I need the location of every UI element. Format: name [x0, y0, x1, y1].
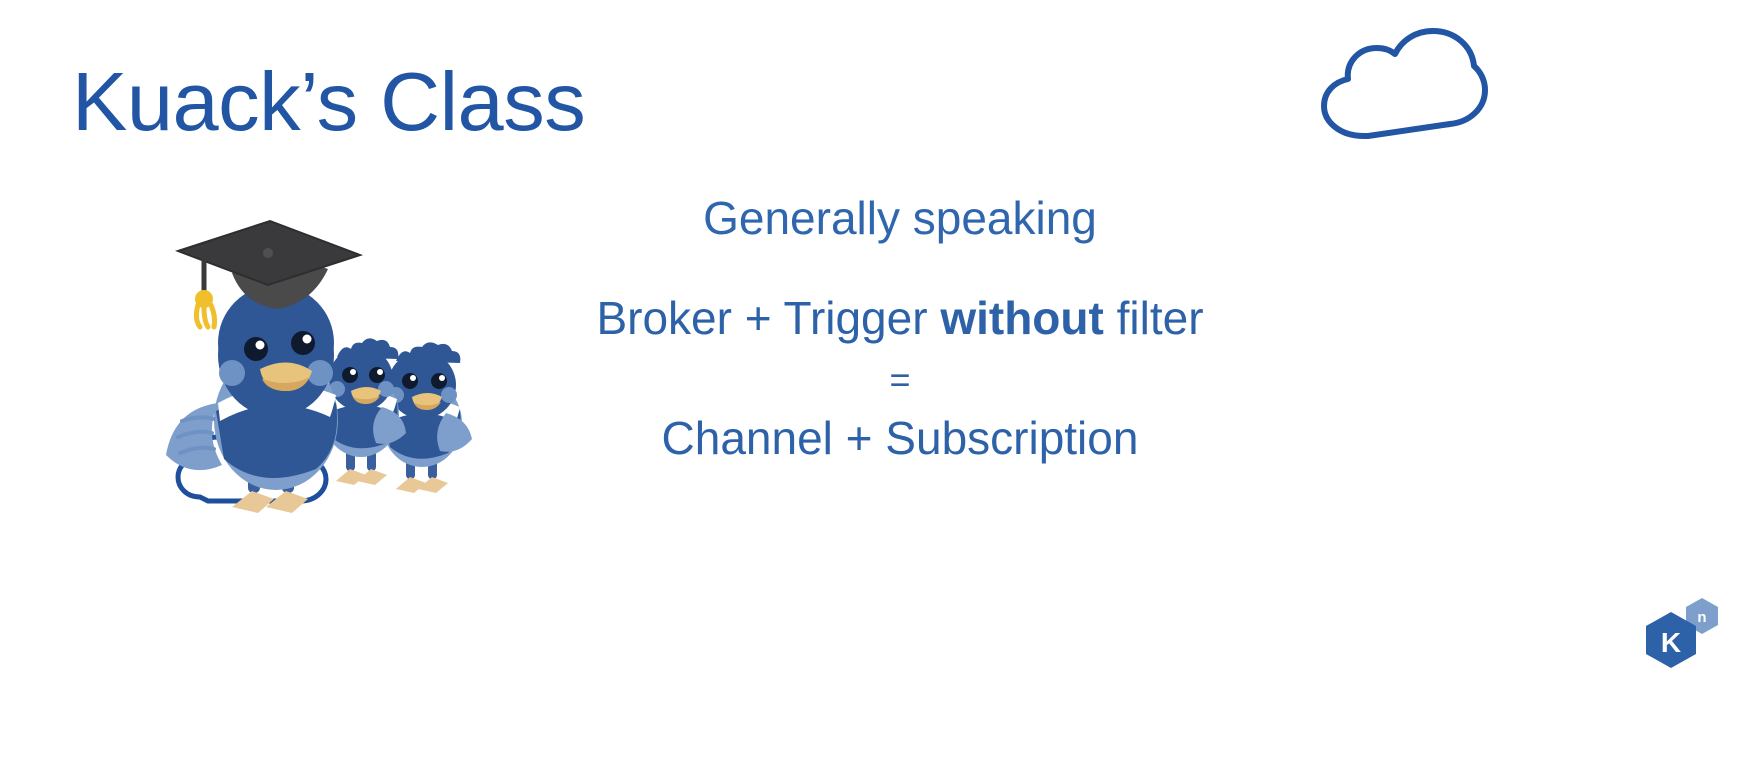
equation-right-side: Channel + Subscription	[520, 410, 1280, 466]
lead-line: Generally speaking	[520, 190, 1280, 248]
content-text-block: Generally speaking Broker + Trigger with…	[520, 190, 1280, 466]
large-bird	[166, 221, 360, 513]
slide-canvas: Kuack’s Class	[0, 0, 1742, 762]
brand-secondary-mark: n	[1697, 609, 1706, 626]
equation-left-emphasis: without	[940, 292, 1104, 344]
graduation-birds-illustration	[160, 215, 510, 525]
equation-left-prefix: Broker + Trigger	[596, 292, 940, 344]
brand-primary-mark: K	[1661, 627, 1681, 658]
equation-operator: =	[520, 362, 1280, 398]
page-title: Kuack’s Class	[72, 58, 585, 145]
cloud-outline-icon	[1310, 26, 1490, 142]
equation-left-side: Broker + Trigger without filter	[520, 290, 1280, 346]
brand-logo: n K	[1640, 592, 1726, 670]
equation-left-suffix: filter	[1104, 292, 1204, 344]
